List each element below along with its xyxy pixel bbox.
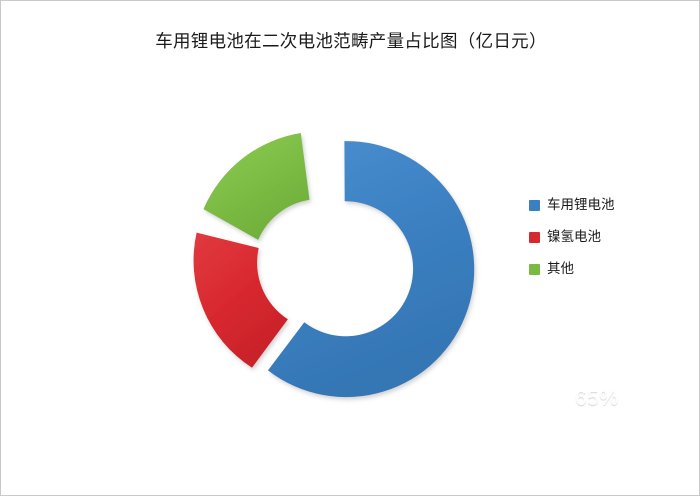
square-swatch-blue-icon — [529, 200, 540, 211]
donut-slice-qi-ta[interactable] — [204, 133, 310, 240]
chart-legend: 车用锂电池 镍氢电池 其他 — [529, 189, 659, 285]
square-swatch-green-icon — [529, 264, 540, 275]
page-title: 车用锂电池在二次电池范畴产量占比图（亿日元） — [1, 31, 700, 52]
legend-item-label: 车用锂电池 — [547, 198, 615, 212]
legend-item-label: 其他 — [547, 262, 574, 276]
legend-item-che-yong-li-dian-chi[interactable]: 车用锂电池 — [529, 189, 659, 221]
legend-item-label: 镍氢电池 — [547, 230, 601, 244]
legend-item-qi-ta[interactable]: 其他 — [529, 253, 659, 285]
donut-chart-plot-area: 65% — [171, 119, 511, 439]
chart-canvas: 车用锂电池在二次电池范畴产量占比图（亿日元） — [0, 0, 700, 496]
square-swatch-red-icon — [529, 232, 540, 243]
donut-chart-svg — [171, 119, 511, 439]
data-label-blue-slice: 65% — [575, 387, 619, 411]
donut-slice-nie-qing-dian-chi[interactable] — [194, 233, 288, 368]
legend-item-nie-qing-dian-chi[interactable]: 镍氢电池 — [529, 221, 659, 253]
